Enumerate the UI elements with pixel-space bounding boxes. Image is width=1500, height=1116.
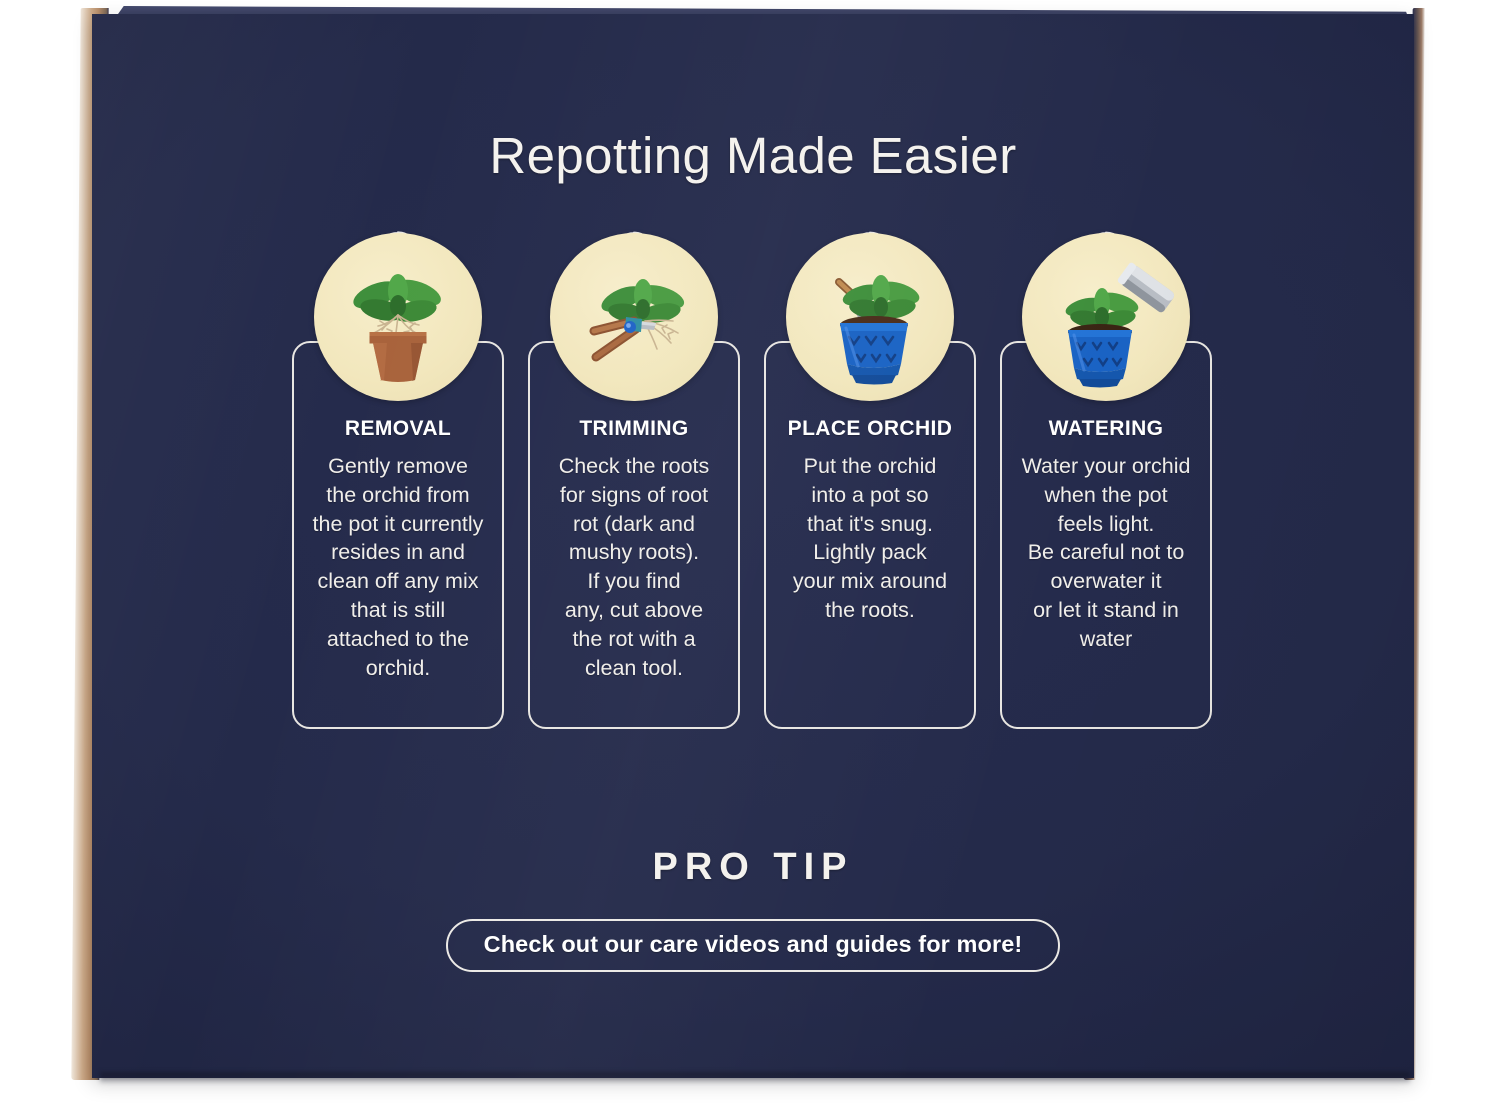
watering-can-spout-over-blue-pot-icon bbox=[1022, 233, 1190, 401]
step-card-trimming: TRIMMING Check the roots for signs of ro… bbox=[528, 229, 740, 729]
step-body-text: Check the roots for signs of root rot (d… bbox=[538, 452, 730, 682]
pro-tip-heading: PRO TIP bbox=[92, 846, 1414, 889]
step-4-card-outline: WATERING Water your orchid when the pot … bbox=[1000, 341, 1212, 729]
step-card-place-orchid: PLACE ORCHID Put the orchid into a pot s… bbox=[764, 229, 976, 729]
step-title: TRIMMING bbox=[538, 417, 730, 441]
orchid-bare-root-terracotta-pot-icon bbox=[314, 233, 482, 401]
step-card-watering: WATERING Water your orchid when the pot … bbox=[1000, 229, 1212, 729]
orchid-in-blue-pot-with-trowel-icon bbox=[786, 233, 954, 401]
step-body-text: Water your orchid when the pot feels lig… bbox=[1010, 452, 1202, 654]
page-title: Repotting Made Easier bbox=[92, 126, 1414, 185]
pruning-shears-trimming-roots-icon bbox=[550, 233, 718, 401]
step-title: REMOVAL bbox=[302, 417, 494, 441]
step-3-card-outline: PLACE ORCHID Put the orchid into a pot s… bbox=[764, 341, 976, 729]
pro-tip-pill-wrapper: Check out our care videos and guides for… bbox=[92, 919, 1414, 972]
repotting-steps-row: REMOVAL Gently remove the orchid from th… bbox=[292, 229, 1212, 729]
step-body-text: Put the orchid into a pot so that it's s… bbox=[774, 452, 966, 625]
box-back-panel-content: Repotting Made Easier bbox=[92, 14, 1414, 1078]
product-box-photo: Repotting Made Easier bbox=[0, 0, 1500, 1116]
step-title: PLACE ORCHID bbox=[774, 417, 966, 441]
step-body-text: Gently remove the orchid from the pot it… bbox=[302, 452, 494, 682]
step-2-card-outline: TRIMMING Check the roots for signs of ro… bbox=[528, 341, 740, 729]
care-videos-callout-pill: Check out our care videos and guides for… bbox=[446, 919, 1061, 972]
step-title: WATERING bbox=[1010, 417, 1202, 441]
step-card-removal: REMOVAL Gently remove the orchid from th… bbox=[292, 229, 504, 729]
step-1-card-outline: REMOVAL Gently remove the orchid from th… bbox=[292, 341, 504, 729]
